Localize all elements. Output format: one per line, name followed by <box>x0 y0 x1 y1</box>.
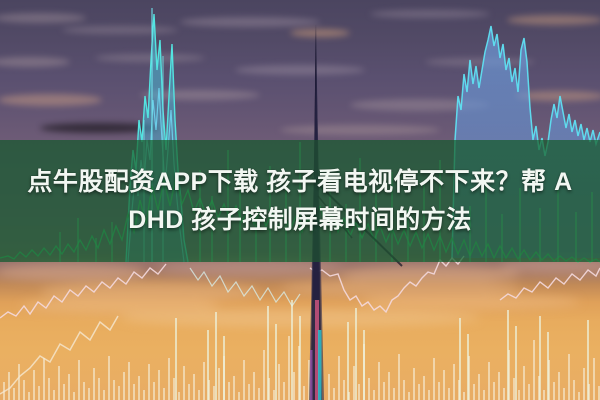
banner-image: 点牛股配资APP下载 孩子看电视停不下来？帮 A DHD 孩子控制屏幕时间的方法 <box>0 0 600 400</box>
headline-block: 点牛股配资APP下载 孩子看电视停不下来？帮 A DHD 孩子控制屏幕时间的方法 <box>0 140 600 262</box>
headline-line-2: DHD 孩子控制屏幕时间的方法 <box>128 202 472 238</box>
headline-line-1: 点牛股配资APP下载 孩子看电视停不下来？帮 A <box>27 164 572 200</box>
